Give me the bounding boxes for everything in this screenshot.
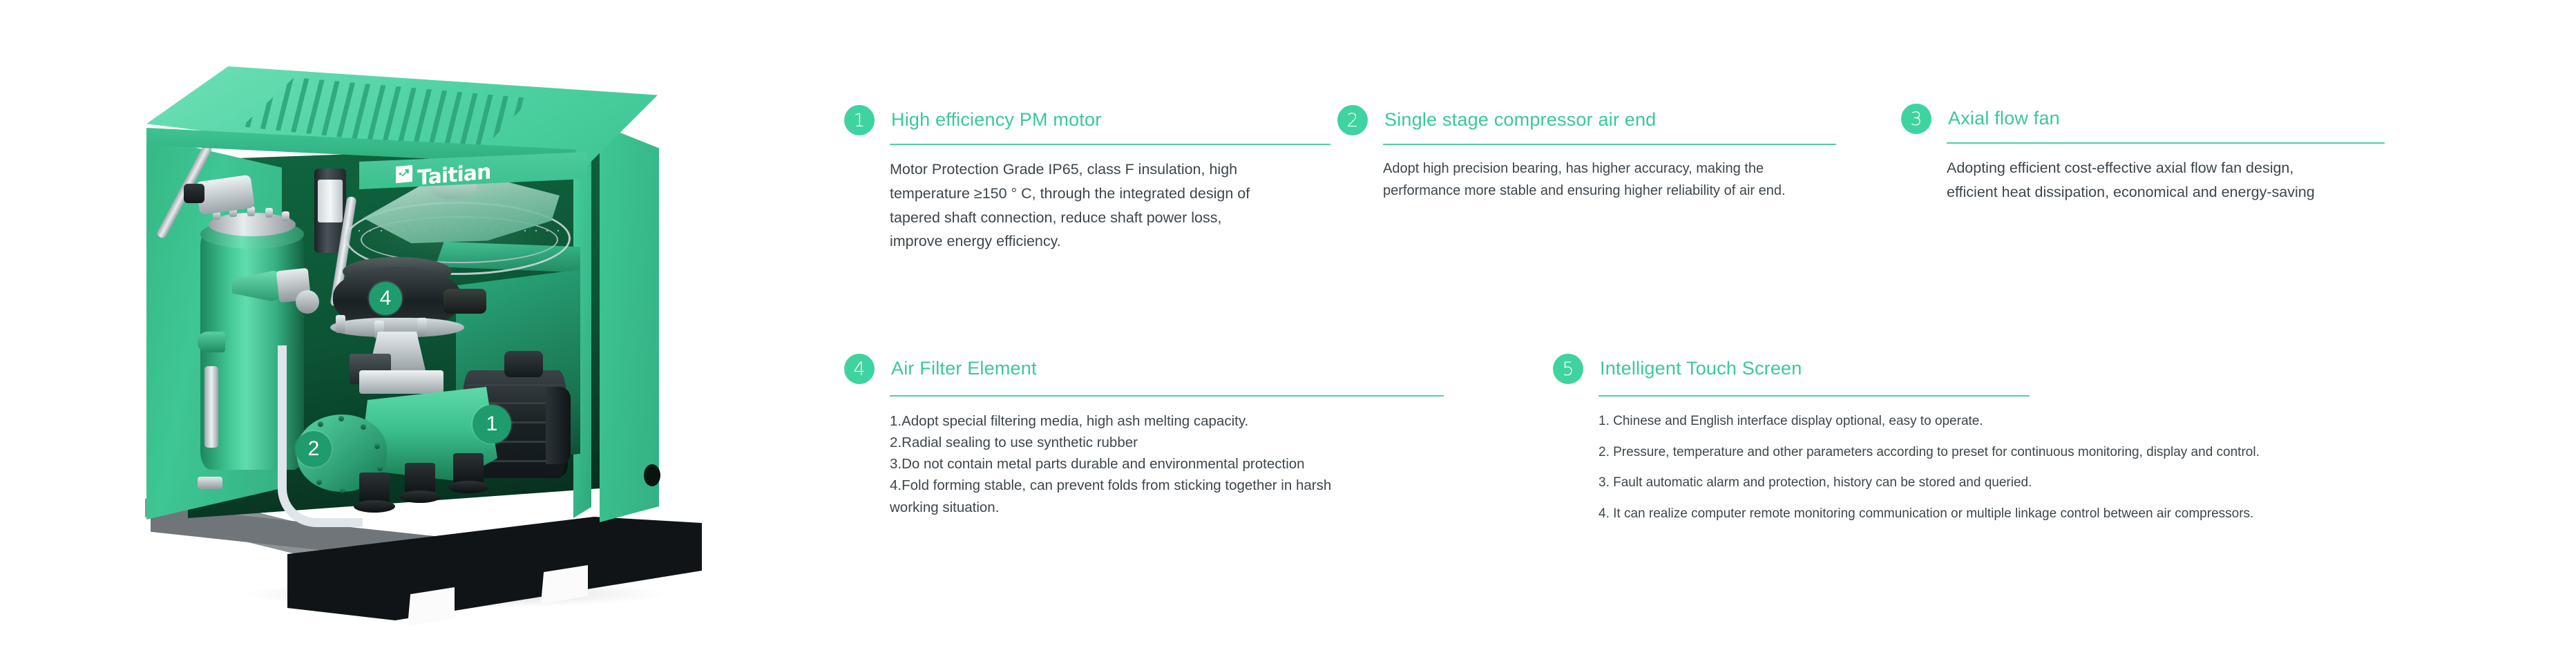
feature-badge-3: 3 xyxy=(1901,104,1931,134)
feature-title-4: Air Filter Element xyxy=(891,358,1037,379)
feature-body-line: Adopting efficient cost-effective axial … xyxy=(1947,156,2386,180)
feature-body-line: 1.Adopt special filtering media, high as… xyxy=(890,410,1445,432)
cabinet-hole xyxy=(644,464,660,486)
air-filter-outlet xyxy=(443,289,486,314)
feature-body-line: efficient heat dissipation, economical a… xyxy=(1947,180,2386,204)
feature-body-2: Adopt high precision bearing, has higher… xyxy=(1383,158,1838,202)
feature-block-2: 2 Single stage compressor air end Adopt … xyxy=(1337,105,1849,326)
feature-badge-1: 1 xyxy=(844,105,875,135)
feature-body-line: temperature ≥150 ° C, through the integr… xyxy=(890,182,1332,206)
feature-body-line: Motor Protection Grade IP65, class F ins… xyxy=(890,158,1332,182)
tank-bolt xyxy=(265,208,273,218)
feature-body-5: 1. Chinese and English interface display… xyxy=(1599,406,2393,530)
feature-divider-2 xyxy=(1383,144,1836,145)
feature-body-line: tapered shaft connection, reduce shaft p… xyxy=(890,206,1332,230)
feature-badge-2: 2 xyxy=(1337,105,1368,135)
compressor-render: Taitian 1 2 3 4 xyxy=(131,41,684,594)
regulator-knob xyxy=(184,184,204,203)
page-root: Taitian 1 2 3 4 1 High efficiency PM mot… xyxy=(0,0,2576,648)
callout-4: 4 xyxy=(369,282,402,315)
airend-top-plate xyxy=(359,370,443,394)
feature-body-line: improve energy efficiency. xyxy=(890,229,1332,254)
callout-3: 3 xyxy=(680,224,705,249)
feature-body-line: performance more stable and ensuring hig… xyxy=(1383,180,1838,202)
feature-body-1: Motor Protection Grade IP65, class F ins… xyxy=(890,158,1332,254)
feature-list-item: 4. It can realize computer remote monito… xyxy=(1599,499,2393,530)
feature-divider-1 xyxy=(890,144,1330,145)
feature-block-3: 3 Axial flow fan Adopting efficient cost… xyxy=(1901,104,2392,325)
vibration-mount-pad xyxy=(354,500,395,513)
feature-body-3: Adopting efficient cost-effective axial … xyxy=(1947,156,2386,204)
feature-block-4: 4 Air Filter Element 1.Adopt special fil… xyxy=(844,354,1452,589)
drain-valve xyxy=(198,477,222,489)
feature-title-3: Axial flow fan xyxy=(1948,108,2060,129)
air-filter-clip xyxy=(417,318,427,336)
feature-body-line: 2.Radial sealing to use synthetic rubber xyxy=(890,432,1445,453)
feature-title-1: High efficiency PM motor xyxy=(891,109,1101,131)
feature-list-item: 2. Pressure, temperature and other param… xyxy=(1599,437,2393,468)
feature-list-item: 3. Fault automatic alarm and protection,… xyxy=(1599,468,2393,499)
feature-title-5: Intelligent Touch Screen xyxy=(1600,358,1802,379)
feature-badge-5: 5 xyxy=(1553,354,1583,384)
feature-body-line: 3.Do not contain metal parts durable and… xyxy=(890,453,1445,475)
feature-divider-4 xyxy=(890,395,1444,397)
feature-badge-4: 4 xyxy=(844,354,875,384)
callout-1: 1 xyxy=(473,405,511,444)
taitian-logo-icon xyxy=(396,165,412,183)
cabinet-right-panel xyxy=(600,124,659,522)
callout-2: 2 xyxy=(296,431,332,467)
pressure-gauge xyxy=(296,290,319,314)
motor-fin xyxy=(467,384,564,386)
tank-bolt xyxy=(282,211,289,221)
product-image: Taitian 1 2 3 4 xyxy=(104,28,739,622)
feature-list-item: 1. Chinese and English interface display… xyxy=(1599,406,2393,437)
feature-body-4: 1.Adopt special filtering media, high as… xyxy=(890,410,1445,518)
motor-end-cap xyxy=(546,387,571,464)
feature-divider-5 xyxy=(1599,395,2030,397)
feature-divider-3 xyxy=(1947,142,2385,144)
vibration-mount-pad xyxy=(399,490,441,503)
oil-filter-label xyxy=(318,180,343,222)
tank-knob xyxy=(198,332,225,352)
motor-junction-box xyxy=(504,351,543,377)
feature-body-line: Adopt high precision bearing, has higher… xyxy=(1383,158,1838,180)
feature-body-line: working situation. xyxy=(890,497,1445,518)
vibration-mount-pad xyxy=(448,481,489,493)
air-filter-clip xyxy=(336,315,345,333)
oil-level-gauge xyxy=(204,366,218,448)
feature-block-1: 1 High efficiency PM motor Motor Protect… xyxy=(844,105,1342,326)
feature-body-line: 4.Fold forming stable, can prevent folds… xyxy=(890,475,1445,496)
feature-title-2: Single stage compressor air end xyxy=(1384,109,1656,131)
feature-block-5: 5 Intelligent Touch Screen 1. Chinese an… xyxy=(1553,354,2396,589)
